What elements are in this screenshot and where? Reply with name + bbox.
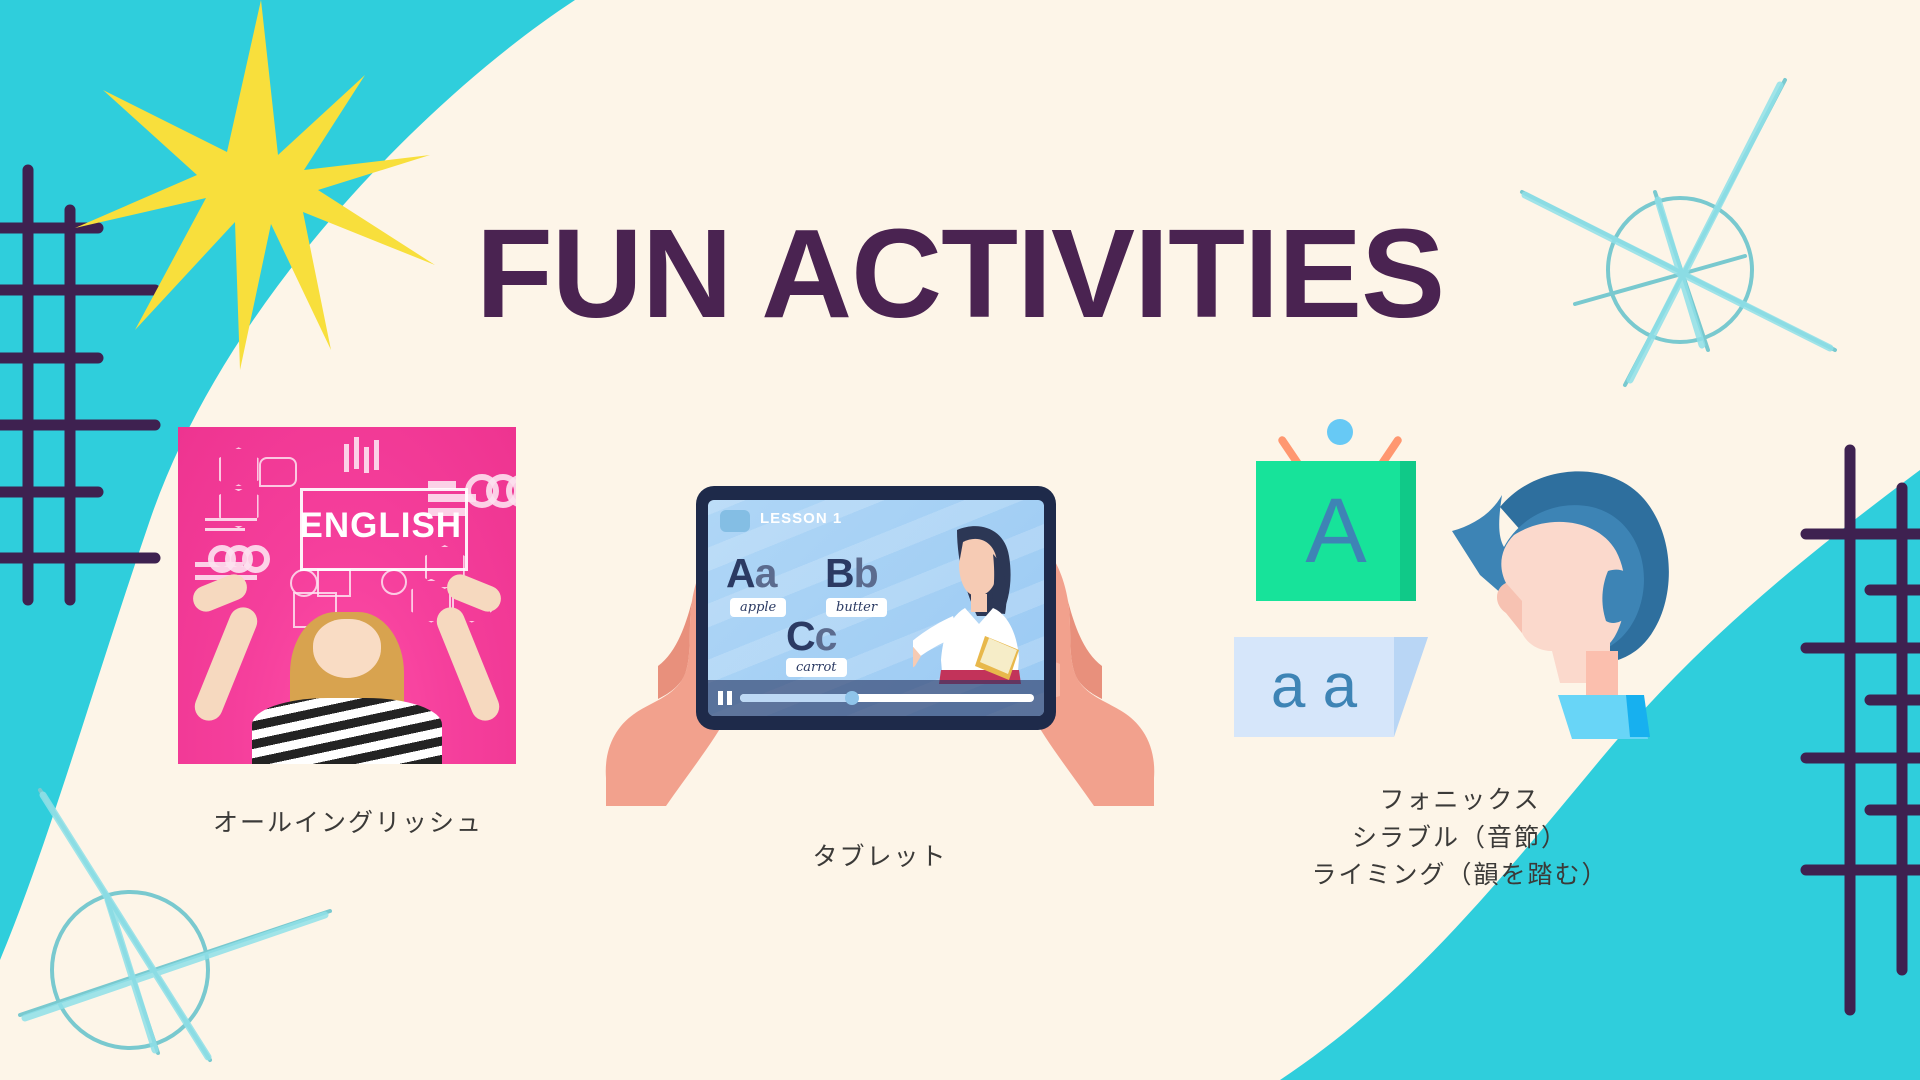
tablet-device[interactable]: LESSON 1 Aa apple Bb butter Cc carrot xyxy=(696,486,1056,730)
progress-bar[interactable] xyxy=(740,694,1034,702)
card-caption-phonics: フォニックス シラブル（音節） ライミング（韻を踏む） xyxy=(1230,781,1690,894)
progress-knob[interactable] xyxy=(845,691,859,705)
english-headline: ENGLISH xyxy=(300,488,462,566)
page-title: FUN ACTIVITIES xyxy=(0,208,1920,340)
tablet-illustration: LESSON 1 Aa apple Bb butter Cc carrot xyxy=(596,486,1164,806)
card-phonics: A a a フォニックス シラブル（音節） ライミング（韻を踏む） xyxy=(1230,415,1690,894)
bubble-tail-icon xyxy=(1394,637,1428,737)
card-tablet: LESSON 1 Aa apple Bb butter Cc carrot xyxy=(596,486,1164,876)
hanger-knob-icon xyxy=(1327,419,1353,445)
pause-icon[interactable] xyxy=(718,691,732,705)
letter-b: Bb xyxy=(825,550,878,597)
caption-line-2: シラブル（音節） xyxy=(1230,819,1690,857)
bubble-letters: a a xyxy=(1234,637,1394,737)
teacher-figure-icon xyxy=(913,524,1043,684)
speech-bubble: a a xyxy=(1234,637,1394,737)
lesson-label: LESSON 1 xyxy=(760,510,842,527)
word-apple: apple xyxy=(730,598,786,617)
boy-head-icon xyxy=(1440,455,1680,745)
photo-person xyxy=(178,569,516,764)
letter-sign: A xyxy=(1256,461,1416,601)
phonics-illustration: A a a xyxy=(1230,415,1690,765)
slide-canvas: FUN ACTIVITIES xyxy=(0,0,1920,1080)
tablet-screen[interactable]: LESSON 1 Aa apple Bb butter Cc carrot xyxy=(708,500,1044,716)
screen-badge-icon xyxy=(720,510,750,532)
letter-a: Aa xyxy=(726,550,776,597)
progress-fill xyxy=(740,694,852,702)
letter-c: Cc xyxy=(786,613,836,660)
card-caption-tablet: タブレット xyxy=(596,838,1164,876)
sign-letter: A xyxy=(1256,461,1416,601)
caption-line-3: ライミング（韻を踏む） xyxy=(1230,856,1690,894)
video-controls[interactable] xyxy=(708,680,1044,716)
card-all-english: ENGLISH オールイングリッシュ xyxy=(178,427,518,842)
word-carrot: carrot xyxy=(786,658,847,677)
card-caption-all-english: オールイングリッシュ xyxy=(178,804,518,842)
english-photo: ENGLISH xyxy=(178,427,516,764)
right-grid-icon xyxy=(1790,450,1920,1010)
caption-line-1: フォニックス xyxy=(1230,781,1690,819)
